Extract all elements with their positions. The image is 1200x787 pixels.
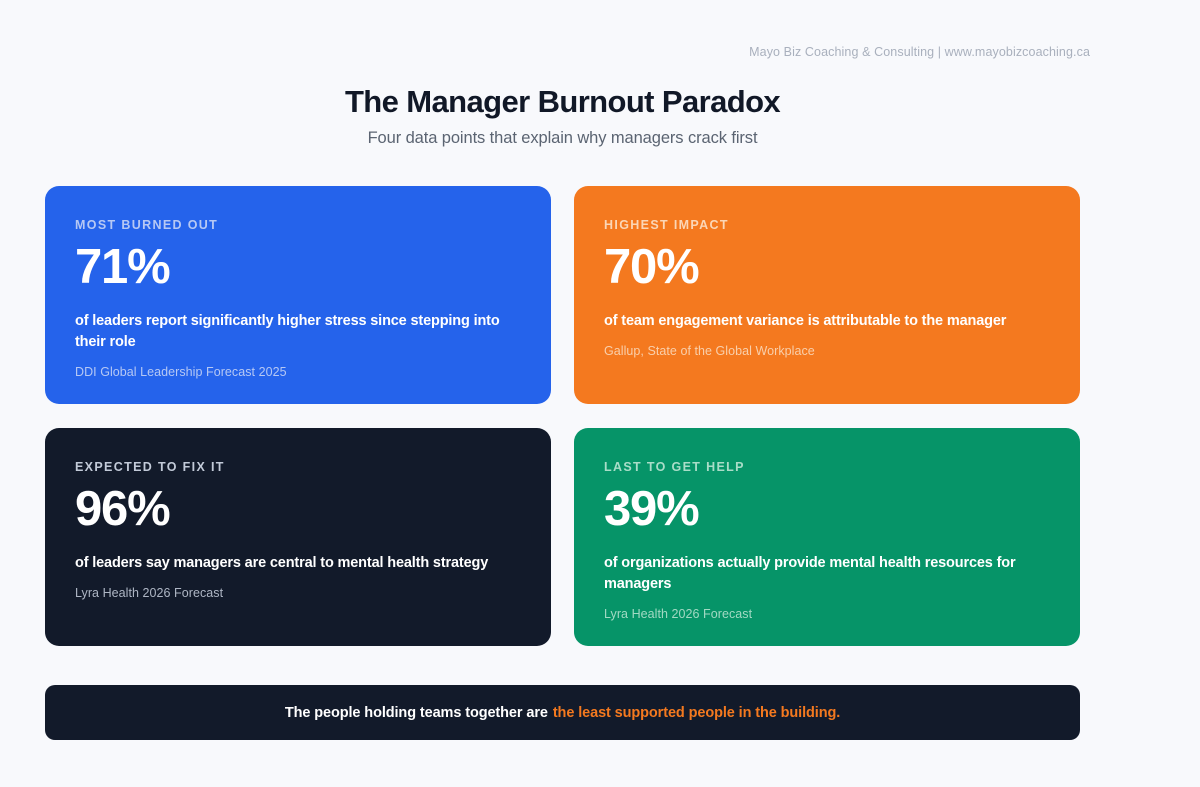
page-subtitle: Four data points that explain why manage… xyxy=(0,129,1125,148)
stat-card-description: of team engagement variance is attributa… xyxy=(604,311,1050,332)
stat-card-source: DDI Global Leadership Forecast 2025 xyxy=(75,365,521,379)
stat-card-grid: MOST BURNED OUT 71% of leaders report si… xyxy=(45,186,1080,646)
stat-card-source: Gallup, State of the Global Workplace xyxy=(604,344,1050,358)
banner-text: The people holding teams together are xyxy=(285,705,548,721)
stat-card-description: of organizations actually provide mental… xyxy=(604,553,1050,595)
stat-card-value: 96% xyxy=(75,484,521,536)
stat-card-label: HIGHEST IMPACT xyxy=(604,218,1050,232)
stat-card-most-burned-out: MOST BURNED OUT 71% of leaders report si… xyxy=(45,186,551,404)
stat-card-description: of leaders say managers are central to m… xyxy=(75,553,521,574)
stat-card-value: 39% xyxy=(604,484,1050,536)
page-title: The Manager Burnout Paradox xyxy=(0,84,1125,120)
stat-card-label: MOST BURNED OUT xyxy=(75,218,521,232)
stat-card-value: 70% xyxy=(604,242,1050,294)
infographic-page: Mayo Biz Coaching & Consulting | www.may… xyxy=(0,0,1200,787)
stat-card-source: Lyra Health 2026 Forecast xyxy=(604,607,1050,621)
brand-attribution: Mayo Biz Coaching & Consulting | www.may… xyxy=(749,45,1090,59)
stat-card-source: Lyra Health 2026 Forecast xyxy=(75,586,521,600)
stat-card-label: EXPECTED TO FIX IT xyxy=(75,460,521,474)
stat-card-expected-to-fix-it: EXPECTED TO FIX IT 96% of leaders say ma… xyxy=(45,428,551,646)
stat-card-label: LAST TO GET HELP xyxy=(604,460,1050,474)
stat-card-description: of leaders report significantly higher s… xyxy=(75,311,521,353)
stat-card-value: 71% xyxy=(75,242,521,294)
stat-card-last-to-get-help: LAST TO GET HELP 39% of organizations ac… xyxy=(574,428,1080,646)
conclusion-banner: The people holding teams together are th… xyxy=(45,685,1080,740)
stat-card-highest-impact: HIGHEST IMPACT 70% of team engagement va… xyxy=(574,186,1080,404)
banner-accent-text: the least supported people in the buildi… xyxy=(553,705,840,721)
